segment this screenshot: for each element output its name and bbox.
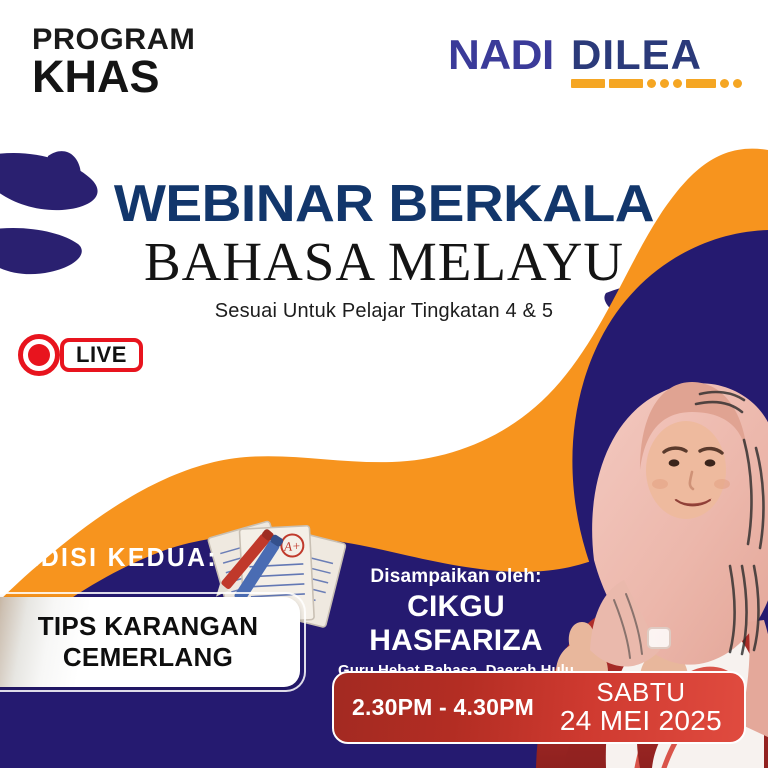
dilea-bar <box>686 79 716 88</box>
live-pill: LIVE <box>60 338 143 372</box>
dilea-logo: DILEA <box>571 34 742 90</box>
speaker-prefix: Disampaikan oleh: <box>322 566 590 588</box>
dilea-wordmark: DILEA <box>571 34 742 76</box>
speaker-name: CIKGU HASFARIZA <box>322 590 590 658</box>
schedule-full-date: 24 MEI 2025 <box>560 706 722 736</box>
topic-line-2: CEMERLANG <box>63 642 233 672</box>
dilea-dot <box>647 79 656 88</box>
poster-canvas: A+ <box>0 0 768 768</box>
webinar-title: WEBINAR BERKALA <box>0 178 768 230</box>
record-icon <box>18 334 60 376</box>
schedule-date: SABTU 24 MEI 2025 <box>560 678 722 736</box>
dilea-dot <box>720 79 729 88</box>
dilea-dot <box>733 79 742 88</box>
dilea-dot <box>673 79 682 88</box>
grade-mark: A+ <box>283 538 301 554</box>
program-label: PROGRAM <box>32 26 195 54</box>
record-dot <box>28 344 50 366</box>
schedule-bar: 2.30PM - 4.30PM SABTU 24 MEI 2025 <box>332 671 746 744</box>
topic-text: TIPS KARANGAN CEMERLANG <box>38 611 259 673</box>
dilea-dot <box>660 79 669 88</box>
live-badge: LIVE <box>18 334 143 376</box>
subject-title: BAHASA MELAYU <box>0 234 768 290</box>
dilea-bar <box>609 79 643 88</box>
title-block: WEBINAR BERKALA BAHASA MELAYU Sesuai Unt… <box>0 178 768 323</box>
schedule-time: 2.30PM - 4.30PM <box>352 694 534 721</box>
live-label: LIVE <box>76 344 127 366</box>
logo-group: NADI DILEA <box>448 34 742 90</box>
schedule-day: SABTU <box>560 678 722 706</box>
edition-label: EDISI KEDUA: <box>22 542 218 573</box>
khas-label: KHAS <box>32 56 192 98</box>
topic-panel: TIPS KARANGAN CEMERLANG <box>0 597 300 687</box>
program-heading: PROGRAM KHAS <box>32 26 192 98</box>
dilea-accent-bars <box>571 79 742 88</box>
nadi-logo: NADI <box>448 34 554 76</box>
audience-note: Sesuai Untuk Pelajar Tingkatan 4 & 5 <box>0 300 768 323</box>
dilea-bar <box>571 79 605 88</box>
topic-line-1: TIPS KARANGAN <box>38 611 259 641</box>
